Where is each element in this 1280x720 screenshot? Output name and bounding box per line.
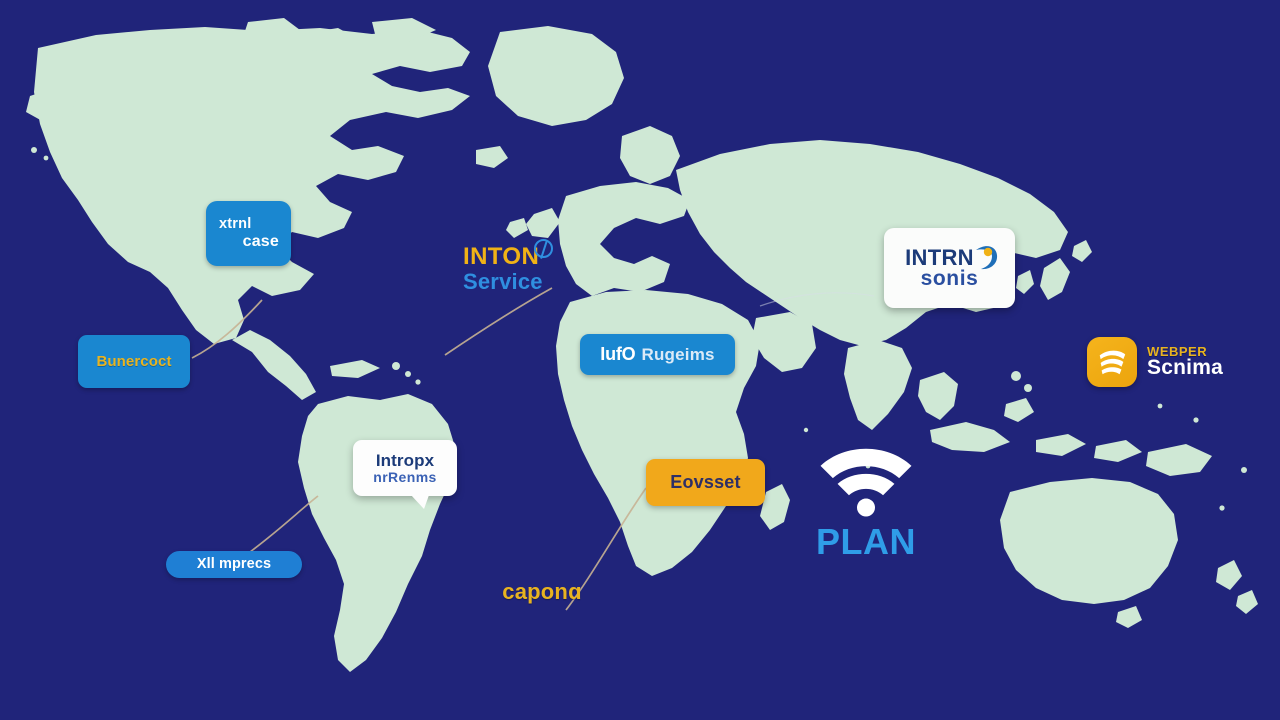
xtrnl-case-line1: xtrnl — [219, 217, 251, 232]
label-iufo-rugeims[interactable]: IufO Rugeims — [580, 334, 735, 375]
label-eovsset[interactable]: Eovsset — [646, 459, 765, 506]
label-capona[interactable]: caponɑ — [482, 577, 602, 607]
eovsset-line1: Eovsset — [670, 473, 740, 491]
inton-service-sub: Service — [463, 271, 543, 293]
xll-mprecs-line1: Xll mprecs — [197, 557, 271, 572]
wifi-icon — [811, 445, 921, 521]
xtrnl-case-line2: case — [243, 234, 279, 250]
label-scnima[interactable]: WEBPER Scnima — [1080, 331, 1230, 393]
label-inton-service[interactable]: INTON Service — [463, 238, 567, 300]
plan-label: PLAN — [816, 524, 916, 561]
world-connectivity-map: xtrnl case Bunercoct INTON Service IufO … — [0, 0, 1280, 720]
scnima-line2: Scnima — [1147, 357, 1223, 378]
iufo-line2: Rugeims — [642, 346, 715, 363]
capona-line1: caponɑ — [502, 581, 581, 603]
inton-wordmark: INTON — [463, 245, 539, 269]
label-intrn-sonis[interactable]: INTRN sonis — [884, 228, 1015, 308]
iufo-line1: IufO — [600, 345, 635, 363]
swoosh-icon — [972, 243, 998, 271]
intropx-line1: Intropx — [376, 452, 434, 469]
label-bunercoct[interactable]: Bunercoct — [78, 335, 190, 388]
label-intropx[interactable]: Intropx nrRenms — [353, 440, 457, 496]
globe-icon — [534, 239, 553, 258]
label-xtrnl-case[interactable]: xtrnl case — [206, 201, 291, 266]
label-xll-mprecs[interactable]: Xll mprecs — [166, 551, 302, 578]
label-plan[interactable]: PLAN — [806, 448, 926, 558]
intropx-line2: nrRenms — [373, 470, 436, 484]
signal-waves-icon — [1087, 337, 1137, 387]
intrn-line2: sonis — [921, 268, 979, 289]
bunercoct-line1: Bunercoct — [96, 354, 171, 369]
intrn-line1: INTRN — [905, 247, 994, 269]
